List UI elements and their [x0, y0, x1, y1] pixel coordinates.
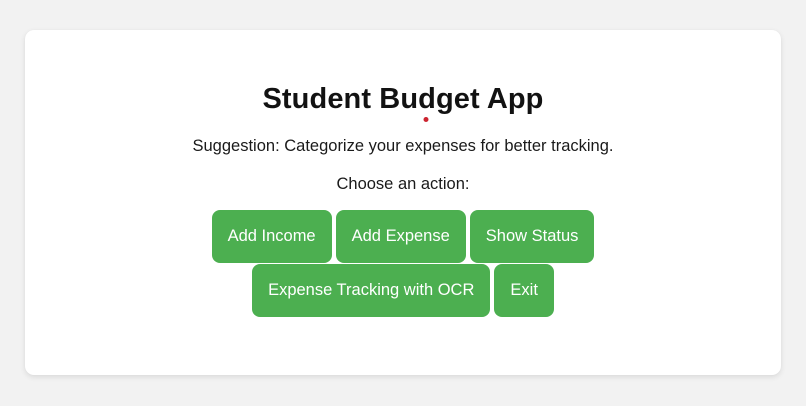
suggestion-text: Suggestion: Categorize your expenses for…	[25, 116, 781, 157]
action-button-group: Add Income Add Expense Show Status Expen…	[25, 210, 781, 317]
choose-action-label: Choose an action:	[25, 157, 781, 195]
app-root: Student Budget App Suggestion: Categoriz…	[0, 0, 806, 406]
expense-tracking-ocr-button[interactable]: Expense Tracking with OCR	[252, 264, 490, 317]
exit-button[interactable]: Exit	[494, 264, 554, 317]
title-block: Student Budget App	[25, 83, 781, 116]
main-card: Student Budget App Suggestion: Categoriz…	[25, 30, 781, 375]
red-dot-icon	[424, 117, 429, 122]
add-expense-button[interactable]: Add Expense	[336, 210, 466, 263]
page-title: Student Budget App	[25, 83, 781, 116]
show-status-button[interactable]: Show Status	[470, 210, 595, 263]
add-income-button[interactable]: Add Income	[212, 210, 332, 263]
